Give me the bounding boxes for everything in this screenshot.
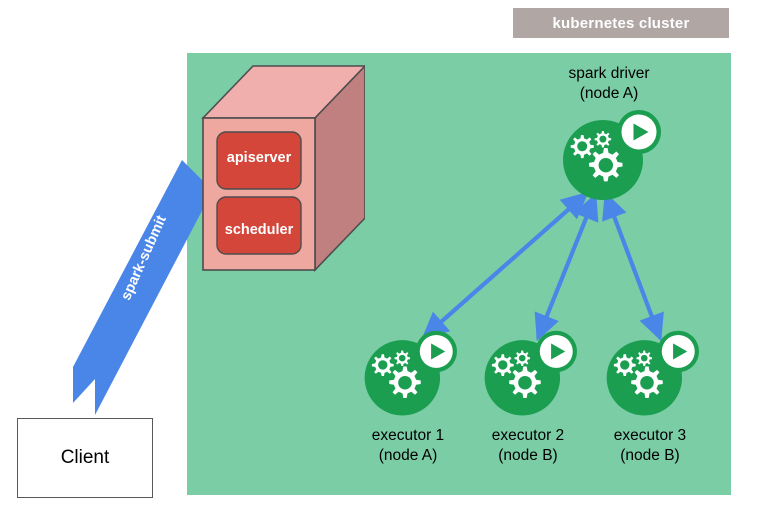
executor-3-label: executor 3 (node B) — [575, 426, 725, 466]
spark-driver-glyph — [557, 110, 661, 204]
client-box[interactable]: Client — [17, 418, 153, 498]
client-label: Client — [61, 447, 110, 469]
diagram-canvas: kubernetes cluster spark-submit apiserve… — [0, 0, 761, 516]
apiserver-label: apiserver — [217, 150, 301, 166]
executor-3-glyph — [601, 330, 699, 420]
spark-driver-label: spark driver (node A) — [530, 64, 688, 104]
play-icon — [622, 115, 657, 150]
scheduler-label: scheduler — [217, 222, 301, 238]
executor-2-glyph — [479, 330, 577, 420]
play-icon — [540, 335, 573, 368]
cube-icon — [195, 58, 365, 278]
play-icon — [662, 335, 695, 368]
play-icon — [420, 335, 453, 368]
executor-1-glyph — [359, 330, 457, 420]
spark-submit-label: spark-submit — [107, 194, 182, 323]
kubernetes-cluster-banner: kubernetes cluster — [513, 8, 729, 38]
